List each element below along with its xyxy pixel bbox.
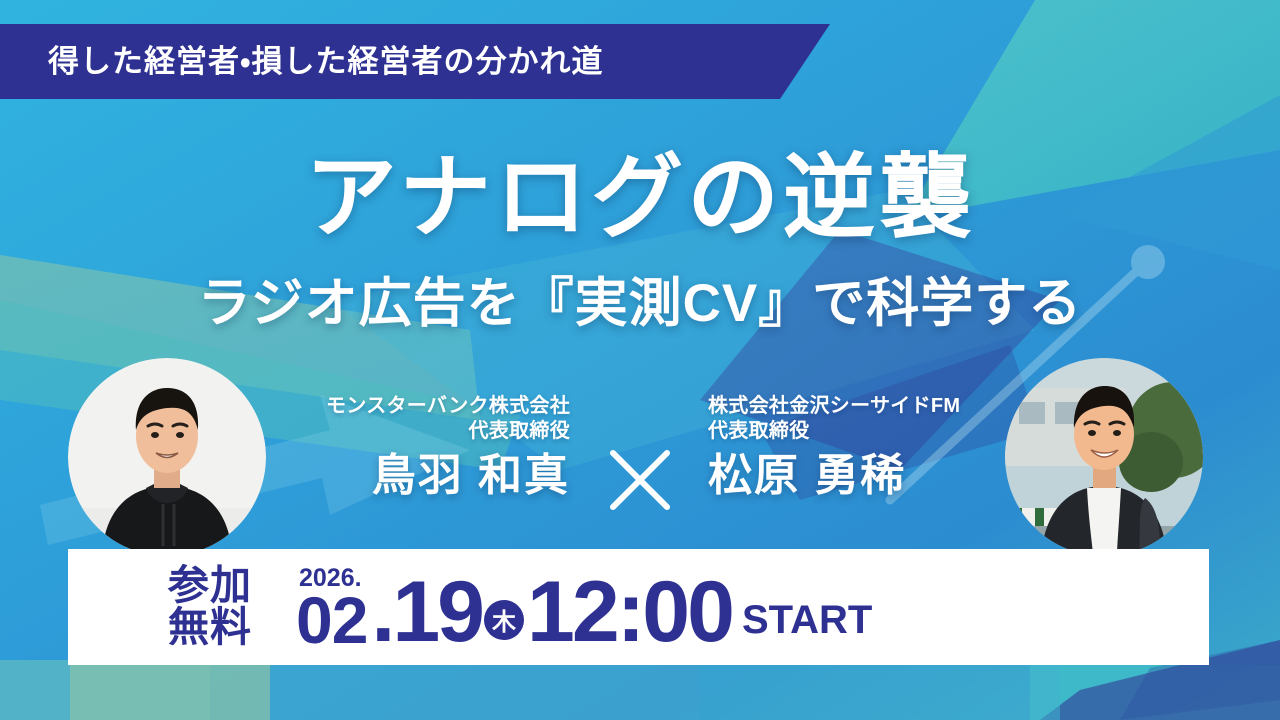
event-weekday-badge: 木 (484, 600, 524, 640)
avatar (1005, 358, 1203, 556)
ribbon-banner: 得した経営者・損した経営者の分かれ道 (0, 24, 830, 99)
free-line-1: 参加 (168, 565, 252, 607)
ribbon-text: 得した経営者・損した経営者の分かれ道 (48, 46, 604, 77)
page-subtitle: ラジオ広告を『実測CV』で科学する (0, 275, 1280, 333)
cross-icon (605, 445, 675, 515)
event-day: .19 (371, 577, 482, 648)
speaker-name: 鳥羽 和真 (230, 454, 570, 498)
speaker-info-left: モンスターバンク株式会社 代表取締役 鳥羽 和真 (230, 394, 570, 498)
webinar-banner: 得した経営者・損した経営者の分かれ道 アナログの逆襲 ラジオ広告を『実測CV』で… (0, 0, 1280, 720)
start-label: START (742, 600, 872, 640)
event-datetime: 2026. 02 .19 木 12:00 START (296, 566, 872, 647)
page-title: アナログの逆襲 (0, 152, 1280, 244)
event-time: 12:00 (527, 577, 732, 648)
free-admission-badge: 参加 無料 (168, 565, 252, 649)
event-month: 02 (296, 593, 367, 647)
date-bar: 参加 無料 2026. 02 .19 木 12:00 START (68, 549, 1209, 665)
free-line-2: 無料 (168, 607, 252, 649)
speaker-company: モンスターバンク株式会社 (230, 394, 570, 419)
year-month: 2026. 02 (296, 566, 367, 647)
speaker-role: 代表取締役 (230, 419, 570, 444)
